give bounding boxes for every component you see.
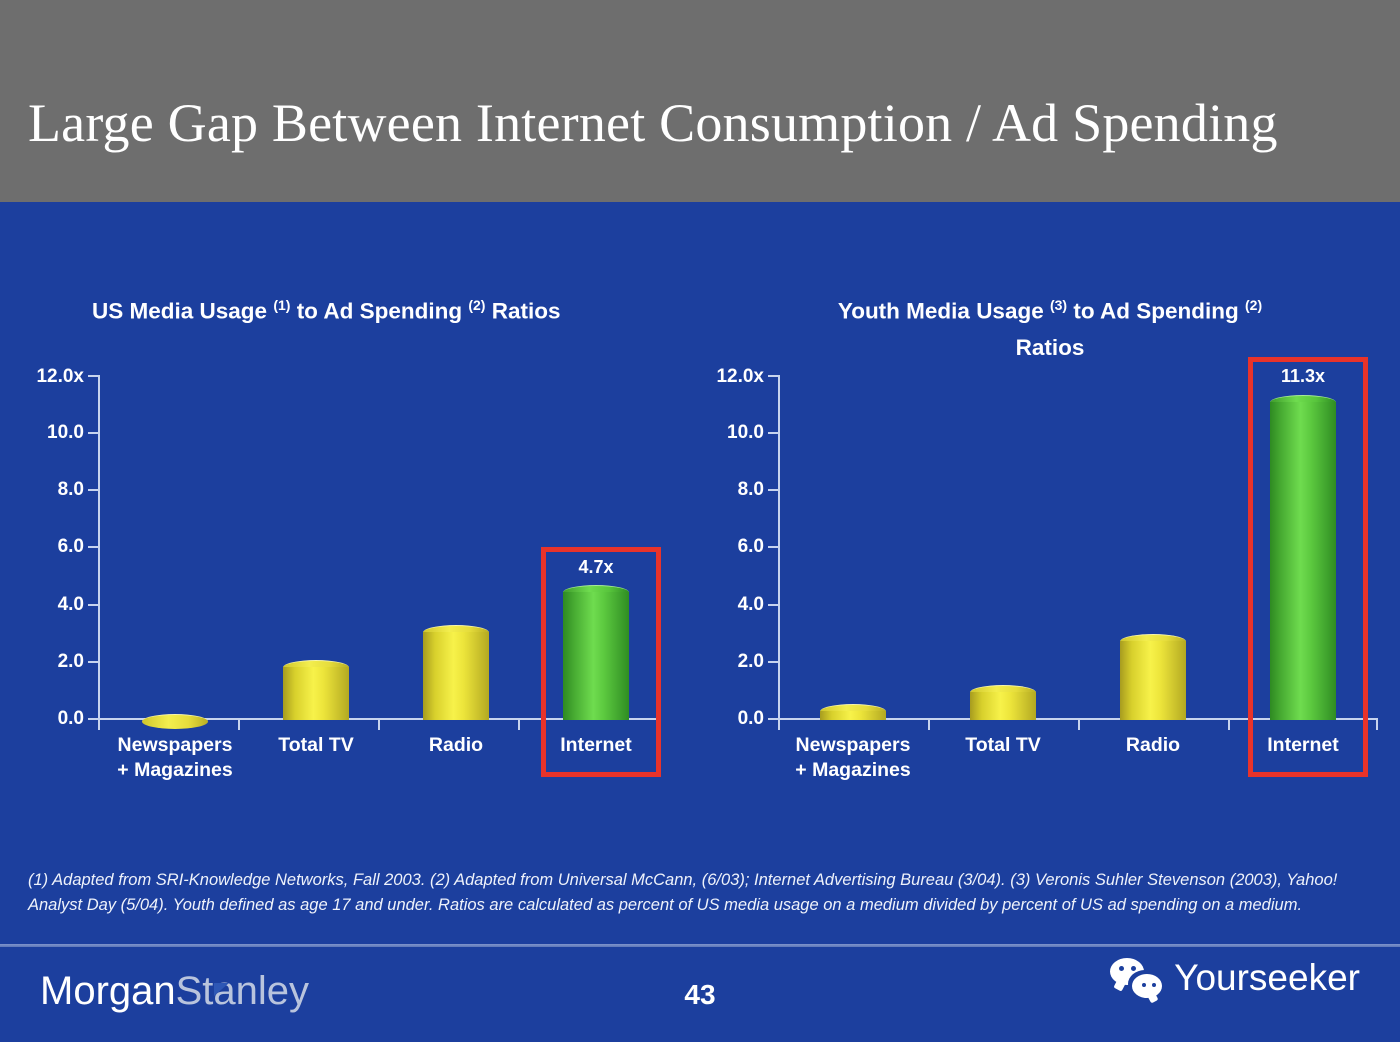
highlight-box-internet-right [1248, 357, 1368, 777]
chart-title-right-sup1: (3) [1050, 297, 1067, 313]
category-label-line-2: + Magazines [117, 758, 232, 783]
y-tick-3 [88, 546, 98, 548]
y-tick-label-6: 12.0x [36, 366, 84, 388]
x-tick-0 [778, 720, 780, 730]
category-label-total-tv: Total TV [965, 733, 1040, 758]
x-tick-3 [518, 720, 520, 730]
y-tick-label-0: 0.0 [58, 708, 84, 730]
y-tick-label-1: 2.0 [738, 651, 764, 673]
y-tick-label-3: 6.0 [738, 536, 764, 558]
y-tick-5 [768, 432, 778, 434]
plot-area-right: 0.0 2.0 4.0 6.0 8.0 10.0 12.0x [778, 375, 1378, 720]
x-tick-1 [238, 720, 240, 730]
highlight-box-internet-left [541, 547, 661, 777]
y-tick-label-5: 10.0 [47, 422, 84, 444]
y-tick-6 [88, 375, 98, 377]
chart-title-left-sup2: (2) [468, 297, 485, 313]
category-label-line-1: Newspapers [795, 733, 910, 758]
y-tick-label-4: 8.0 [58, 479, 84, 501]
watermark-text: Yourseeker [1174, 957, 1360, 999]
y-tick-label-2: 4.0 [58, 594, 84, 616]
slide: Large Gap Between Internet Consumption /… [0, 0, 1400, 1042]
bar-cap [142, 714, 208, 729]
chart-title-left-a: US Media Usage [92, 299, 273, 324]
footnote: (1) Adapted from SRI-Knowledge Networks,… [28, 868, 1376, 917]
y-tick-label-6: 12.0x [716, 366, 764, 388]
category-label-newspapers-magazines: Newspapers + Magazines [795, 733, 910, 783]
bar-total-tv[interactable] [970, 685, 1036, 720]
y-tick-4 [768, 489, 778, 491]
category-label-radio: Radio [1126, 733, 1180, 758]
slide-footer: MorganStanley 43 Yourseeker [0, 947, 1400, 1042]
chart-title-right-sup2: (2) [1245, 297, 1262, 313]
y-tick-0 [768, 718, 778, 720]
y-tick-label-5: 10.0 [727, 422, 764, 444]
chart-title-right-b: to Ad Spending [1067, 299, 1245, 324]
chart-panel-us-media-usage: US Media Usage (1) to Ad Spending (2) Ra… [20, 225, 720, 825]
x-tick-0 [98, 720, 100, 730]
y-tick-1 [768, 661, 778, 663]
chart-title-right-a: Youth Media Usage [838, 299, 1050, 324]
category-label-line-2: + Magazines [795, 758, 910, 783]
y-tick-label-3: 6.0 [58, 536, 84, 558]
x-tick-3 [1228, 720, 1230, 730]
category-label-newspapers-magazines: Newspapers + Magazines [117, 733, 232, 783]
chart-title-right: Youth Media Usage (3) to Ad Spending (2)… [700, 287, 1400, 366]
chart-panel-youth-media-usage: Youth Media Usage (3) to Ad Spending (2)… [700, 225, 1400, 825]
category-label-radio: Radio [429, 733, 483, 758]
bar-newspapers-magazines[interactable] [820, 704, 886, 720]
wechat-bubble-front [1132, 974, 1162, 998]
y-tick-0 [88, 718, 98, 720]
y-tick-5 [88, 432, 98, 434]
y-tick-label-2: 4.0 [738, 594, 764, 616]
chart-title-left-sup1: (1) [273, 297, 290, 313]
x-tick-1 [928, 720, 930, 730]
bar-body [423, 632, 489, 720]
x-tick-2 [378, 720, 380, 730]
y-tick-2 [88, 604, 98, 606]
y-axis-line-left [98, 375, 100, 720]
bar-newspapers-magazines[interactable] [142, 714, 208, 720]
category-label-total-tv: Total TV [278, 733, 353, 758]
y-tick-6 [768, 375, 778, 377]
bar-body [820, 711, 886, 720]
y-tick-3 [768, 546, 778, 548]
x-tick-2 [1078, 720, 1080, 730]
x-tick-4 [1376, 720, 1378, 730]
y-tick-label-4: 8.0 [738, 479, 764, 501]
y-tick-4 [88, 489, 98, 491]
y-tick-2 [768, 604, 778, 606]
bar-body [283, 667, 349, 720]
bar-total-tv[interactable] [283, 660, 349, 720]
chart-title-left: US Media Usage (1) to Ad Spending (2) Ra… [20, 287, 792, 330]
plot-area-left: 0.0 2.0 4.0 6.0 8.0 10.0 12.0x [98, 375, 658, 720]
y-tick-1 [88, 661, 98, 663]
chart-title-left-b: to Ad Spending [290, 299, 468, 324]
chart-title-left-c: Ratios [485, 299, 560, 324]
y-tick-label-0: 0.0 [738, 708, 764, 730]
bar-radio[interactable] [1120, 634, 1186, 720]
wechat-icon [1110, 958, 1162, 998]
bar-radio[interactable] [423, 625, 489, 720]
watermark: Yourseeker [1110, 957, 1360, 999]
bar-body [1120, 641, 1186, 720]
y-tick-label-1: 2.0 [58, 651, 84, 673]
page-title: Large Gap Between Internet Consumption /… [28, 92, 1378, 154]
chart-title-right-line1: Youth Media Usage (3) to Ad Spending (2) [700, 287, 1400, 330]
bar-body [970, 692, 1036, 720]
category-label-line-1: Newspapers [117, 733, 232, 758]
y-axis-line-right [778, 375, 780, 720]
